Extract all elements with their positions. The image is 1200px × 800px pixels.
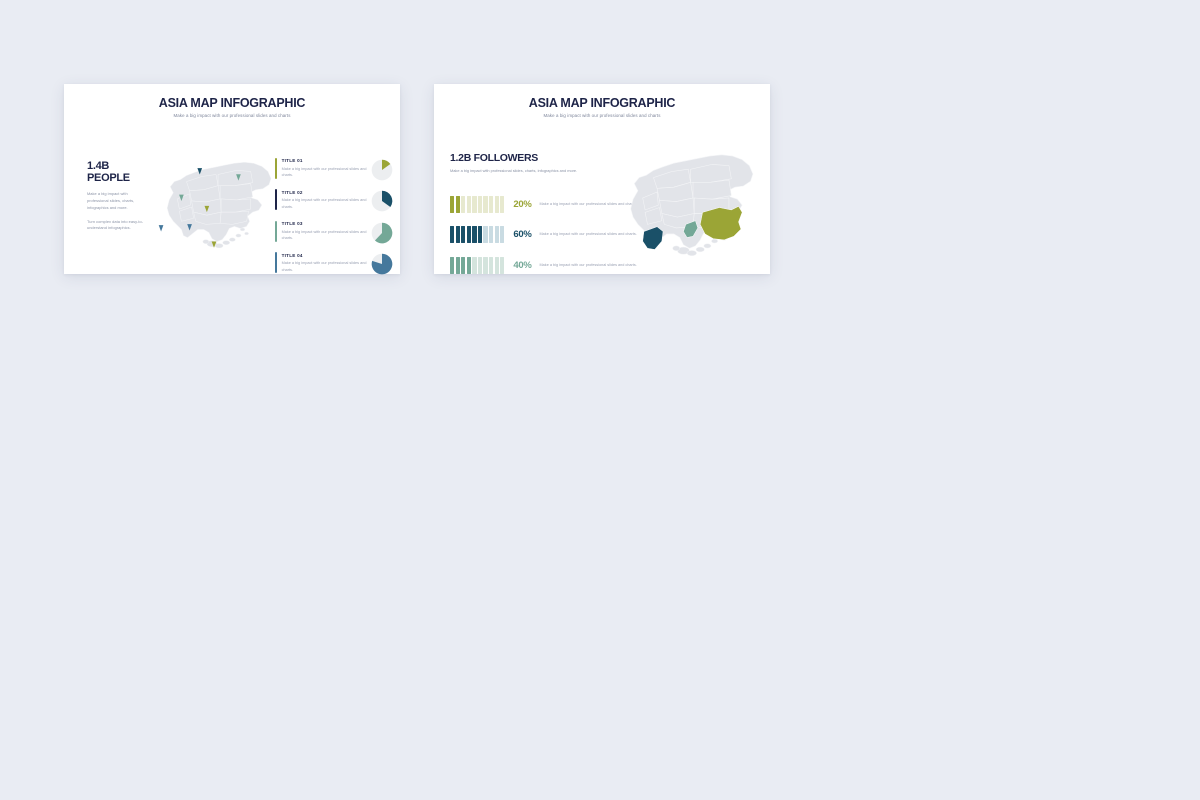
bar-segment-empty (489, 226, 493, 243)
stat-value-line1: 1.4B (87, 160, 149, 172)
bar-segment-filled (461, 226, 465, 243)
pie-chart-1[interactable] (371, 159, 393, 181)
bar-segment-empty (500, 257, 504, 274)
title-item-3[interactable]: TITLE 03Make a big impact with our profe… (275, 221, 393, 248)
stat-block-followers: 1.2B FOLLOWERS Make a big impact with pr… (450, 152, 600, 175)
stat-paragraph: Make a big impact with professional slid… (450, 168, 600, 175)
stat-value: 1.2B FOLLOWERS (450, 152, 600, 164)
bar-segment-filled (456, 226, 460, 243)
title-item-label: TITLE 03 (282, 221, 368, 226)
title-item-4[interactable]: TITLE 04Make a big impact with our profe… (275, 252, 393, 279)
bar-segment-filled (456, 196, 460, 213)
slide-right-body: 1.2B FOLLOWERS Make a big impact with pr… (434, 118, 770, 270)
bar-segment-empty (500, 196, 504, 213)
bar-segment-empty (483, 196, 487, 213)
title-list: TITLE 01Make a big impact with our profe… (275, 158, 393, 284)
asia-map-left[interactable] (148, 148, 280, 260)
slide-asia-map-followers[interactable]: ASIA MAP INFOGRAPHIC Make a big impact w… (434, 84, 770, 274)
stat-value: 1.4B PEOPLE (87, 160, 149, 185)
bar-segment-empty (495, 257, 499, 274)
asia-map-right[interactable] (604, 134, 764, 266)
segmented-bar-chart (450, 226, 504, 243)
bar-segment-empty (478, 257, 482, 274)
percent-value: 20% (513, 199, 531, 210)
slide-left-body: 1.4B PEOPLE Make a big impact with profe… (64, 118, 400, 270)
bar-segment-empty (489, 257, 493, 274)
bar-segment-filled (467, 226, 471, 243)
bar-segment-empty (472, 196, 476, 213)
bar-segment-empty (461, 196, 465, 213)
pie-chart-3[interactable] (371, 222, 393, 244)
bar-segment-empty (495, 196, 499, 213)
bar-segment-filled (450, 257, 454, 274)
title-item-label: TITLE 02 (282, 190, 368, 195)
pie-chart-2[interactable] (371, 190, 393, 212)
title-item-text: TITLE 01Make a big impact with our profe… (277, 158, 368, 179)
marker-arabia[interactable] (159, 225, 164, 231)
title-item-1[interactable]: TITLE 01Make a big impact with our profe… (275, 158, 393, 185)
bar-segment-empty (495, 226, 499, 243)
bar-segment-filled (472, 226, 476, 243)
stat-paragraph-2: Turn complex data into easy-to-understan… (87, 219, 149, 233)
bar-segment-empty (483, 226, 487, 243)
stat-paragraph-1: Make a big impact with professional slid… (87, 191, 149, 211)
stat-value-line2: PEOPLE (87, 172, 149, 184)
bar-segment-empty (483, 257, 487, 274)
slide-header-left: ASIA MAP INFOGRAPHIC Make a big impact w… (64, 84, 400, 118)
bar-segment-filled (478, 226, 482, 243)
bar-segment-filled (456, 257, 460, 274)
bar-segment-empty (500, 226, 504, 243)
title-item-text: TITLE 02Make a big impact with our profe… (277, 189, 368, 210)
title-item-text: TITLE 04Make a big impact with our profe… (277, 252, 368, 273)
percent-value: 60% (513, 229, 531, 240)
bar-segment-filled (467, 257, 471, 274)
slide-asia-map-people[interactable]: ASIA MAP INFOGRAPHIC Make a big impact w… (64, 84, 400, 274)
bar-segment-empty (472, 257, 476, 274)
title-item-description: Make a big impact with our professional … (282, 197, 368, 210)
page-title: ASIA MAP INFOGRAPHIC (434, 96, 770, 110)
title-item-label: TITLE 01 (282, 158, 368, 163)
segmented-bar-chart (450, 257, 504, 274)
segmented-bar-chart (450, 196, 504, 213)
bar-segment-filled (461, 257, 465, 274)
bar-segment-filled (450, 226, 454, 243)
title-item-text: TITLE 03Make a big impact with our profe… (277, 221, 368, 242)
title-item-2[interactable]: TITLE 02Make a big impact with our profe… (275, 189, 393, 216)
title-item-label: TITLE 04 (282, 253, 368, 258)
bar-segment-empty (478, 196, 482, 213)
pie-chart-4[interactable] (371, 253, 393, 275)
map-region-china[interactable] (700, 206, 742, 240)
title-item-description: Make a big impact with our professional … (282, 166, 368, 179)
bar-segment-empty (489, 196, 493, 213)
bar-segment-filled (450, 196, 454, 213)
title-item-description: Make a big impact with our professional … (282, 229, 368, 242)
percent-value: 40% (513, 260, 531, 271)
slide-header-right: ASIA MAP INFOGRAPHIC Make a big impact w… (434, 84, 770, 118)
page-title: ASIA MAP INFOGRAPHIC (64, 96, 400, 110)
infographic-canvas: ASIA MAP INFOGRAPHIC Make a big impact w… (0, 0, 1200, 800)
stat-block-people: 1.4B PEOPLE Make a big impact with profe… (87, 160, 149, 233)
bar-segment-empty (467, 196, 471, 213)
title-item-description: Make a big impact with our professional … (282, 260, 368, 273)
